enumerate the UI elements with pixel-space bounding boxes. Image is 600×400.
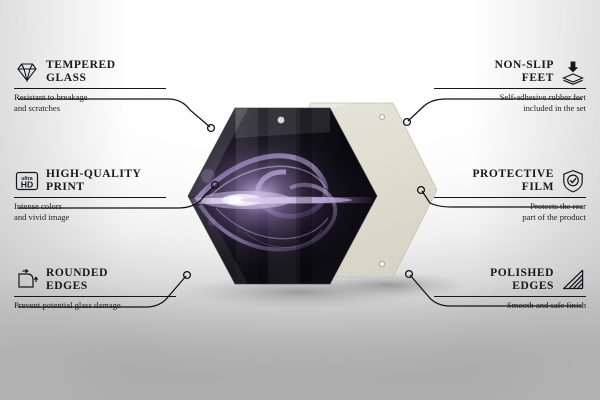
feature-divider <box>434 296 586 297</box>
ultra-hd-icon: ultra HD <box>14 168 40 194</box>
feature-tempered-glass: TEMPERED GLASS Resistant to breakage and… <box>14 59 166 113</box>
feature-title: ROUNDED EDGES <box>46 267 176 293</box>
feature-description: Self-adhesive rubber feet included in th… <box>434 92 586 112</box>
feature-divider <box>14 296 176 297</box>
feature-polished-edges: POLISHED EDGES Smooth and safe finish <box>434 267 586 311</box>
feature-divider <box>14 88 166 89</box>
polished-hatch-icon <box>560 267 586 293</box>
feature-description: Smooth and safe finish <box>434 300 586 310</box>
feature-title: PROTECTIVE FILM <box>434 168 554 194</box>
feature-protective-film: PROTECTIVE FILM Protects the rear part o… <box>434 168 586 222</box>
feature-non-slip-feet: NON-SLIP FEET Self-adhesive rubber feet … <box>434 59 586 113</box>
leader-dot-non-slip-feet <box>404 119 411 126</box>
feature-title: HIGH-QUALITY PRINT <box>46 168 166 194</box>
feature-description: Prevent potential glass damage <box>14 300 176 310</box>
feature-title: NON-SLIP FEET <box>434 59 554 85</box>
rounded-corner-icon <box>14 267 40 293</box>
feature-divider <box>434 197 586 198</box>
leader-dot-rounded-edges <box>184 272 191 279</box>
ultra-hd-icon-bottom-text: HD <box>21 180 33 190</box>
feature-description: Intense colors and vivid image <box>14 201 166 221</box>
press-pad-icon <box>560 59 586 85</box>
feature-description: Protects the rear part of the product <box>434 201 586 221</box>
feature-divider <box>14 197 166 198</box>
feature-title: POLISHED EDGES <box>434 267 554 293</box>
infographic-canvas: TEMPERED GLASS Resistant to breakage and… <box>0 0 600 400</box>
feature-high-quality-print: ultra HD HIGH-QUALITY PRINT Intense colo… <box>14 168 166 222</box>
feature-rounded-edges: ROUNDED EDGES Prevent potential glass da… <box>14 267 176 311</box>
feature-description: Resistant to breakage and scratches <box>14 92 166 112</box>
leader-dot-tempered-glass <box>208 125 215 132</box>
feature-divider <box>434 88 586 89</box>
diamond-icon <box>14 59 40 85</box>
feature-title: TEMPERED GLASS <box>46 59 166 85</box>
shield-check-icon <box>560 168 586 194</box>
